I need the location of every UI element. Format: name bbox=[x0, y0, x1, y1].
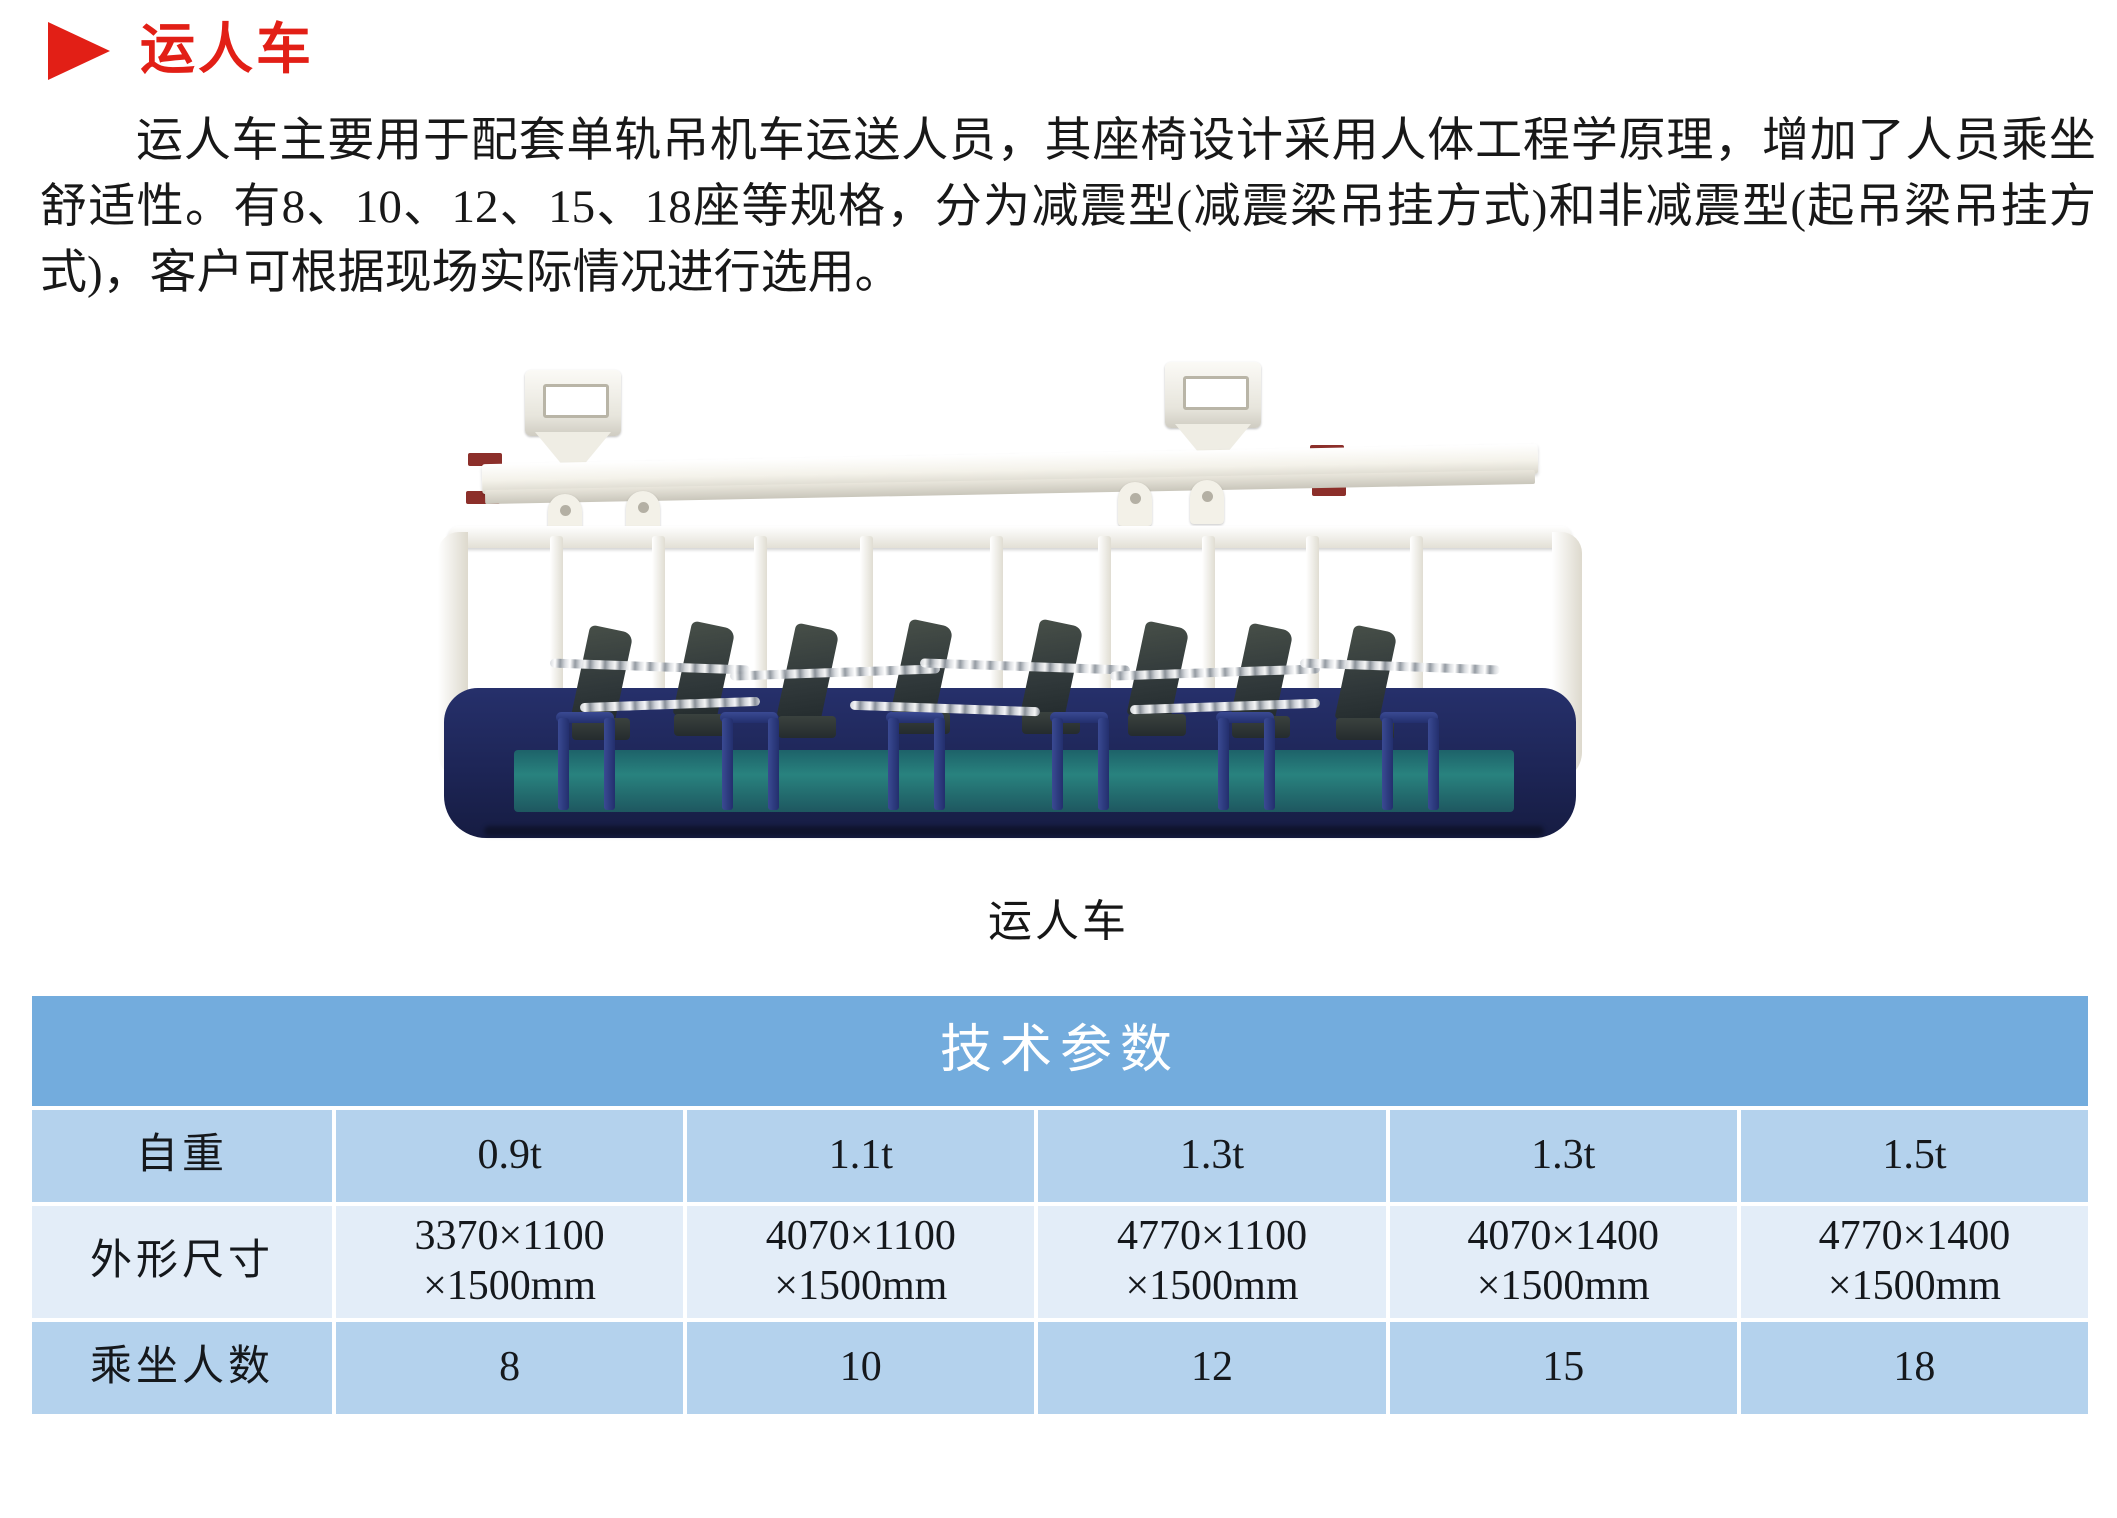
safety-chain bbox=[1300, 659, 1500, 675]
grab-rail bbox=[604, 718, 615, 810]
cell-dimensions-3: 4770×1100 ×1500mm bbox=[1038, 1206, 1385, 1318]
grab-rail bbox=[1052, 718, 1063, 810]
cell-self-weight-3: 1.3t bbox=[1038, 1110, 1385, 1202]
cell-seating-1: 8 bbox=[336, 1322, 683, 1414]
cell-dimensions-2: 4070×1100 ×1500mm bbox=[687, 1206, 1034, 1318]
intro-paragraph: 运人车主要用于配套单轨吊机车运送人员，其座椅设计采用人体工程学原理，增加了人员乘… bbox=[40, 108, 2096, 306]
grab-rail bbox=[722, 718, 733, 810]
passenger-seat-base bbox=[1128, 714, 1186, 736]
lifting-lug-4 bbox=[1190, 480, 1224, 524]
row-label-self-weight: 自重 bbox=[32, 1110, 332, 1202]
cell-self-weight-5: 1.5t bbox=[1741, 1110, 2088, 1202]
carrier-floor-panel bbox=[514, 750, 1514, 812]
row-label-dimensions: 外形尺寸 bbox=[32, 1206, 332, 1318]
trolley-bracket-right bbox=[1165, 362, 1261, 428]
cell-dimensions-1: 3370×1100 ×1500mm bbox=[336, 1206, 683, 1318]
cell-seating-5: 18 bbox=[1741, 1322, 2088, 1414]
page-title-text: 运人车 bbox=[140, 22, 314, 77]
table-header-title: 技术参数 bbox=[32, 996, 2088, 1106]
table-row: 乘坐人数 8 10 12 15 18 bbox=[32, 1322, 2088, 1414]
cell-self-weight-1: 0.9t bbox=[336, 1110, 683, 1202]
table-row: 外形尺寸 3370×1100 ×1500mm 4070×1100 ×1500mm… bbox=[32, 1206, 2088, 1318]
grab-rail bbox=[934, 718, 945, 810]
table-row: 自重 0.9t 1.1t 1.3t 1.3t 1.5t bbox=[32, 1110, 2088, 1202]
grab-rail bbox=[888, 718, 899, 810]
cell-seating-3: 12 bbox=[1038, 1322, 1385, 1414]
cell-seating-4: 15 bbox=[1390, 1322, 1737, 1414]
red-triangle-bullet-icon bbox=[48, 22, 110, 80]
row-label-seating-capacity: 乘坐人数 bbox=[32, 1322, 332, 1414]
cell-self-weight-4: 1.3t bbox=[1390, 1110, 1737, 1202]
cell-dimensions-5: 4770×1400 ×1500mm bbox=[1741, 1206, 2088, 1318]
grab-rail bbox=[1098, 718, 1109, 810]
passenger-seat-base bbox=[778, 716, 836, 738]
cage-top-rail bbox=[448, 526, 1572, 548]
technical-parameters-table: 技术参数 自重 0.9t 1.1t 1.3t 1.3t 1.5t 外形尺寸 33… bbox=[32, 996, 2088, 1414]
grab-rail bbox=[558, 718, 569, 810]
carrier-ground-shadow bbox=[484, 826, 1544, 836]
grab-rail bbox=[1428, 718, 1439, 810]
grab-rail bbox=[1382, 718, 1393, 810]
grab-rail bbox=[1264, 718, 1275, 810]
cell-self-weight-2: 1.1t bbox=[687, 1110, 1034, 1202]
grab-rail bbox=[768, 718, 779, 810]
carrier-cage bbox=[430, 522, 1590, 844]
cell-dimensions-4: 4070×1400 ×1500mm bbox=[1390, 1206, 1737, 1318]
cell-seating-2: 10 bbox=[687, 1322, 1034, 1414]
lifting-lug-3 bbox=[1118, 482, 1152, 526]
trolley-bracket-left bbox=[525, 370, 621, 436]
page-title: 运人车 bbox=[48, 10, 314, 88]
product-figure bbox=[0, 360, 2117, 700]
monorail-personnel-carrier-photo bbox=[430, 360, 1590, 880]
grab-rail bbox=[1218, 718, 1229, 810]
figure-caption: 运人车 bbox=[0, 885, 2117, 949]
